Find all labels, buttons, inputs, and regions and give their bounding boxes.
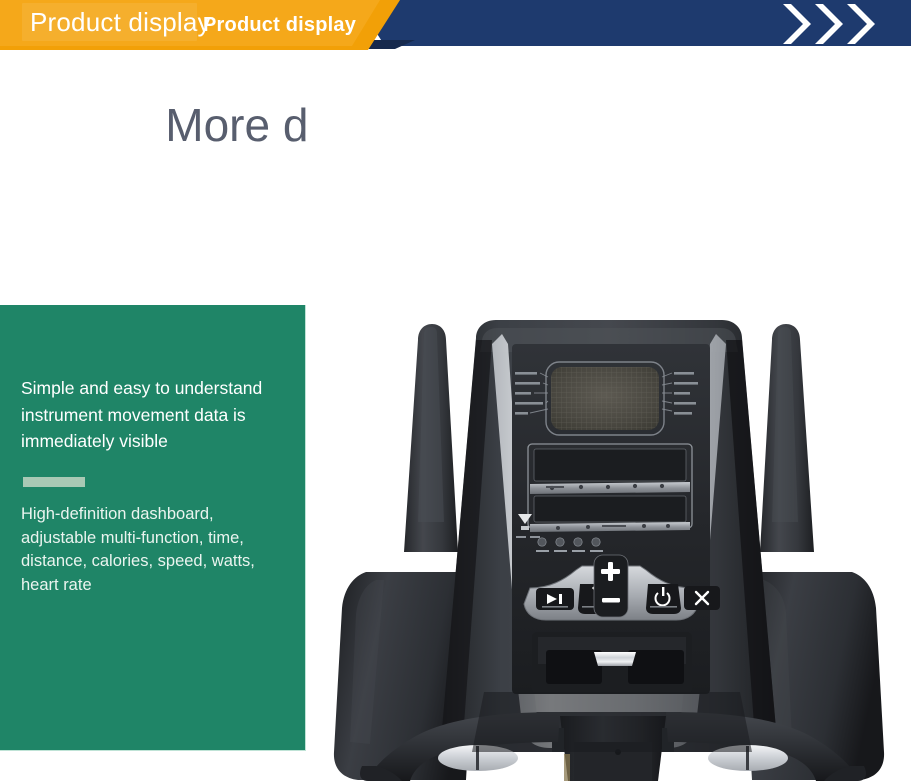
reset-button — [646, 584, 681, 614]
lcd-display — [546, 362, 664, 435]
minus-icon — [602, 598, 620, 603]
info-panel-body: High-definition dashboard, adjustable mu… — [21, 503, 289, 597]
info-panel: Simple and easy to understand instrument… — [0, 305, 306, 751]
chevron-right-triple-icon — [781, 2, 901, 46]
info-panel-headline: Simple and easy to understand instrument… — [21, 375, 293, 455]
mode-button — [684, 586, 720, 610]
start-stop-button — [536, 588, 574, 610]
product-display-tab-label[interactable]: Product display — [30, 6, 211, 38]
console-base-shadow — [472, 692, 752, 752]
product-display-banner-label: Product display — [203, 12, 356, 38]
info-panel-divider — [23, 477, 85, 487]
level-rocker — [594, 555, 628, 617]
header-banner: Product display Product display — [0, 0, 911, 52]
product-image — [306, 52, 911, 781]
tablet-holder — [532, 632, 692, 694]
program-bar-graph — [528, 444, 692, 532]
